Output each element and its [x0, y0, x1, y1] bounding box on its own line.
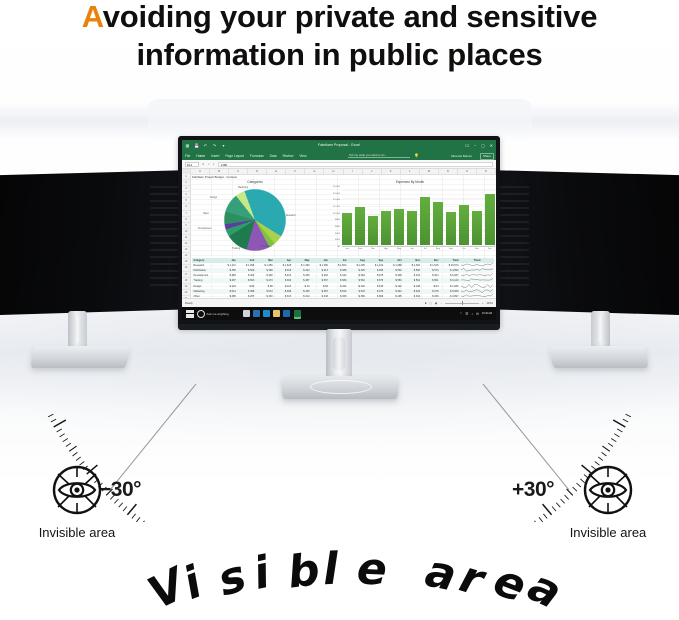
protractor-tick: [48, 414, 53, 417]
table-cell: $ 1,390: [293, 264, 311, 267]
bar-jul: [420, 197, 430, 245]
bar-dec: [485, 194, 495, 245]
table-cell: $ 1,845: [440, 285, 460, 288]
budget-data-table[interactable]: CategoryJanFebMarAprMayJunJulAugSepOctNo…: [192, 258, 494, 299]
table-cell: $ 1,356: [256, 264, 274, 267]
table-cell: $ 145: [366, 285, 384, 288]
bar-chart-y-axis: $1,800$1,600$1,400$1,200$1,000$800$600$4…: [322, 187, 341, 247]
table-cell: $ 456: [366, 269, 384, 272]
bar-sep: [446, 212, 456, 245]
table-column-header[interactable]: Category: [192, 259, 219, 262]
y-tick: $800: [335, 219, 340, 221]
protractor-tick: [613, 420, 625, 427]
protractor-tick: [69, 446, 76, 451]
y-tick: $1,800: [333, 186, 340, 188]
minimize-icon[interactable]: −: [474, 143, 476, 148]
excel-window: ▦ 💾 ↶ ↷ ▾ Fabrikam Proposal - Excel ☐ − …: [182, 140, 496, 320]
protractor-tick: [66, 443, 71, 446]
table-cell: $ 83: [311, 285, 329, 288]
window-controls[interactable]: ☐ − ◻ ✕: [465, 143, 493, 148]
zoom-in-button[interactable]: +: [482, 302, 484, 305]
bar-chart-plot-area: [342, 190, 495, 245]
crossed-out-eye-icon: [582, 464, 634, 516]
pie-chart-title: Categories: [194, 180, 316, 184]
formula-input[interactable]: 1488: [218, 162, 493, 167]
table-column-header[interactable]: Sep: [366, 259, 384, 262]
table-cell: $ 1,503: [330, 264, 348, 267]
table-cell: $ 507: [311, 279, 329, 282]
insert-function-icon[interactable]: ƒ: [213, 162, 215, 166]
visible-area-char: s: [212, 550, 251, 606]
bar-feb: [355, 207, 365, 246]
protractor-tick: [73, 452, 78, 456]
table-cell: $ 366: [256, 269, 274, 272]
table-cell: $ 84: [422, 285, 440, 288]
table-cell: $ 432: [403, 274, 421, 277]
restore-icon[interactable]: ◻: [481, 143, 484, 148]
cortana-circle-icon: [197, 310, 205, 318]
table-cell: $ 1,172: [219, 264, 237, 267]
center-monitor-screen: ▦ 💾 ↶ ↷ ▾ Fabrikam Proposal - Excel ☐ − …: [182, 140, 496, 320]
x-tick: May: [394, 248, 404, 254]
protractor-tick: [623, 419, 628, 422]
table-cell: $ 420: [348, 285, 366, 288]
table-cell: $ 1,515: [422, 264, 440, 267]
visible-area-char: a: [421, 546, 460, 602]
ribbon-tab-page-layout[interactable]: Page Layout: [225, 154, 244, 158]
zoom-out-button[interactable]: −: [440, 302, 442, 305]
protractor-tick: [617, 429, 622, 432]
sheet-cells[interactable]: Fabrikam Project Budget - Contoso Catego…: [190, 174, 496, 303]
table-cell: $ 424: [330, 285, 348, 288]
headline-line2: information in public places: [0, 36, 679, 74]
ribbon-tab-review[interactable]: Review: [283, 154, 294, 158]
status-text: Ready: [185, 302, 193, 305]
show-hidden-icons[interactable]: ⌃: [459, 312, 462, 316]
table-cell: $ 5,068: [440, 290, 460, 293]
outlook-icon[interactable]: [283, 310, 290, 317]
cell-a1-text: Fabrikam Project Budget - Contoso: [192, 175, 237, 179]
protractor-tick: [602, 446, 609, 451]
table-cell: $ 573: [422, 269, 440, 272]
table-cell: $ 58: [256, 285, 274, 288]
table-cell: $ 503: [348, 290, 366, 293]
table-cell: $ 388: [330, 269, 348, 272]
table-cell: $ 513: [256, 290, 274, 293]
pie-chart[interactable]: Categories Marketing Design Sales Develo…: [194, 180, 316, 254]
store-icon[interactable]: [273, 310, 280, 317]
table-column-header[interactable]: Jul: [330, 259, 348, 262]
table-cell: $ 342: [385, 290, 403, 293]
cortana-search-box[interactable]: Ask me anything: [197, 310, 229, 318]
x-tick: Jul: [420, 248, 430, 254]
status-right-group[interactable]: ■ ▢ ▣ − + 100%: [425, 302, 493, 305]
x-tick: Aug: [433, 248, 443, 254]
account-name[interactable]: Miranda Baines: [451, 154, 472, 158]
table-column-header[interactable]: Jun: [311, 259, 329, 262]
table-column-header[interactable]: Aug: [348, 259, 366, 262]
lightbulb-icon: 💡: [414, 153, 419, 158]
table-cell: $ 487: [219, 279, 237, 282]
table-cell-category: Research: [192, 264, 219, 267]
center-monitor: ▦ 💾 ↶ ↷ ▾ Fabrikam Proposal - Excel ☐ − …: [178, 136, 500, 388]
pie-label-marketing: Marketing: [238, 187, 248, 189]
protractor-tick: [76, 457, 81, 461]
page-title: Avoiding your private and sensitive info…: [0, 0, 679, 74]
table-cell: $ 502: [385, 269, 403, 272]
table-cell: $ 1,362: [403, 264, 421, 267]
table-cell: $ 15,574: [440, 264, 460, 267]
visible-area-char: r: [454, 551, 488, 606]
table-cell: $ 1,628: [274, 264, 292, 267]
protractor-tick: [63, 439, 68, 442]
ribbon-tab-view[interactable]: View: [299, 154, 306, 158]
table-cell: $ 561: [422, 279, 440, 282]
task-view-icon[interactable]: [243, 310, 250, 317]
pie-label-design: Design: [210, 197, 217, 199]
table-cell: $ 138: [403, 285, 421, 288]
left-monitor: [0, 170, 202, 385]
right-monitor-stand-neck: [591, 311, 610, 349]
visible-area-char: i: [249, 548, 273, 601]
table-cell: $ 409: [385, 274, 403, 277]
pie-label-development: Development: [198, 228, 212, 230]
pie-chart-graphic: [224, 189, 286, 251]
table-cell: $ 44: [293, 285, 311, 288]
taskbar-clock[interactable]: 10:46 AM: [482, 312, 492, 315]
crossed-out-eye-icon: [51, 464, 103, 516]
table-cell: $ 329: [348, 269, 366, 272]
volume-icon[interactable]: ♪: [471, 312, 473, 316]
table-cell: $ 513: [219, 290, 237, 293]
table-cell: $ 402: [274, 274, 292, 277]
table-cell: $ 580: [330, 279, 348, 282]
confirm-icon[interactable]: ✓: [208, 162, 211, 166]
table-cell: $ 123: [219, 285, 237, 288]
share-button[interactable]: Share: [480, 153, 494, 160]
excel-status-bar: Ready ■ ▢ ▣ − + 100%: [182, 298, 496, 307]
table-column-header[interactable]: Trend: [460, 259, 494, 262]
y-tick: $1,600: [333, 193, 340, 195]
table-column-header[interactable]: Nov: [403, 259, 421, 262]
y-tick: $1,400: [333, 199, 340, 201]
table-column-header[interactable]: Apr: [274, 259, 292, 262]
x-tick: Nov: [472, 248, 482, 254]
ribbon-tab-file[interactable]: File: [185, 154, 190, 158]
table-cell: $ 1,280: [311, 264, 329, 267]
table-cell: $ 509: [237, 269, 255, 272]
ribbon-tab-home[interactable]: Home: [196, 154, 205, 158]
table-cell: $ 473: [256, 279, 274, 282]
left-monitor-screen: [0, 170, 192, 315]
excel-document-title: Fabrikam Proposal - Excel: [182, 143, 496, 147]
visible-area-char: l: [322, 544, 338, 596]
bar-chart[interactable]: Expenses By Month $1,800$1,600$1,400$1,2…: [322, 180, 496, 254]
protractor-tick: [614, 434, 619, 437]
table-cell: $ 1,305: [348, 264, 366, 267]
excel-title-bar: ▦ 💾 ↶ ↷ ▾ Fabrikam Proposal - Excel ☐ − …: [182, 140, 496, 151]
table-cell: $ 5,287: [440, 274, 460, 277]
table-cell: $ 520: [330, 290, 348, 293]
protractor-tick: [54, 420, 66, 427]
file-explorer-icon[interactable]: [263, 310, 270, 317]
right-screen-ghost-content: [495, 186, 529, 286]
ribbon-display-options-icon[interactable]: ☐: [465, 143, 469, 148]
action-center-icon[interactable]: ✉: [476, 312, 479, 316]
x-tick: Jun: [407, 248, 417, 254]
edge-icon[interactable]: [253, 310, 260, 317]
table-cell: $ 346: [293, 290, 311, 293]
search-placeholder: Ask me anything: [207, 312, 229, 316]
y-tick: $400: [335, 233, 340, 235]
windows-taskbar[interactable]: Ask me anything ⌃ ☰: [182, 307, 496, 320]
table-cell: $ 102: [385, 285, 403, 288]
table-cell: $ 462: [311, 274, 329, 277]
x-tick: Sep: [446, 248, 456, 254]
bar-aug: [433, 202, 443, 245]
visible-area-char: e: [356, 544, 387, 596]
table-cell: $ 478: [366, 274, 384, 277]
x-tick: Apr: [381, 248, 391, 254]
bar-mar: [368, 216, 378, 245]
table-cell: $ 356: [219, 269, 237, 272]
table-cell: $ 398: [274, 290, 292, 293]
table-cell: $ 580: [385, 279, 403, 282]
protractor-tick: [602, 452, 607, 456]
table-cell-category: Design: [192, 285, 219, 288]
table-cell: $ 387: [311, 290, 329, 293]
protractor-tick: [132, 514, 136, 519]
table-column-header[interactable]: Jan: [219, 259, 237, 262]
table-cell: $ 503: [237, 279, 255, 282]
excel-icon[interactable]: [294, 310, 301, 317]
table-cell: $ 489: [219, 274, 237, 277]
table-cell-category: Marketing: [192, 290, 219, 293]
right-monitor-stand-base: [549, 346, 648, 368]
table-column-header[interactable]: Oct: [385, 259, 403, 262]
table-cell: $ 313: [311, 269, 329, 272]
network-icon[interactable]: ☰: [465, 312, 468, 316]
bar-jun: [407, 211, 417, 245]
protractor-tick: [626, 414, 631, 417]
protractor-tick: [611, 439, 616, 442]
table-cell-category: Training: [192, 279, 219, 282]
left-monitor-stand-base: [30, 346, 129, 368]
protractor-tick: [60, 434, 65, 437]
table-cell: $ 429: [403, 290, 421, 293]
scene: Avoiding your private and sensitive info…: [0, 0, 679, 620]
table-cell: $ 6,129: [440, 279, 460, 282]
table-cell: $ 364: [274, 279, 292, 282]
table-cell-category: Development: [192, 274, 219, 277]
table-cell: $ 279: [366, 290, 384, 293]
table-cell: $ 1,012: [366, 264, 384, 267]
windows-start-icon[interactable]: [186, 310, 194, 318]
headline-accent-letter: A: [82, 0, 103, 34]
table-cell: $ 376: [422, 290, 440, 293]
right-monitor-screen: [487, 170, 679, 315]
pie-label-sales: Sales: [203, 213, 209, 215]
table-cell: $ 402: [237, 274, 255, 277]
view-pagelayout-icon[interactable]: ▢: [429, 302, 431, 305]
table-cell: $ 1,088: [385, 264, 403, 267]
formula-bar-row: D14 ✕ ✓ ƒ 1488: [182, 160, 496, 169]
y-tick: $1,200: [333, 206, 340, 208]
table-cell: $ 492: [256, 274, 274, 277]
table-cell-category: Distribution: [192, 269, 219, 272]
bar-apr: [381, 211, 391, 245]
y-tick: $0: [338, 246, 340, 248]
table-cell: $ 1,096: [237, 264, 255, 267]
visible-area-label: Visiblearea: [0, 520, 679, 610]
table-cell: $ 82: [237, 285, 255, 288]
table-cell: $ 566: [403, 269, 421, 272]
x-tick: Jan: [342, 248, 352, 254]
pie-label-training: Training: [232, 248, 240, 250]
angle-label-right: +30°: [512, 478, 554, 502]
table-cell: $ 487: [293, 279, 311, 282]
protractor-tick: [543, 504, 552, 515]
bar-nov: [472, 211, 482, 245]
table-cell: $ 484: [348, 274, 366, 277]
bar-may: [394, 209, 404, 245]
table-cell: $ 562: [348, 279, 366, 282]
zoom-slider[interactable]: [445, 303, 479, 304]
y-tick: $1,000: [333, 213, 340, 215]
view-pagebreak-icon[interactable]: ▣: [435, 302, 437, 305]
close-icon[interactable]: ✕: [490, 143, 493, 148]
protractor-tick: [608, 443, 613, 446]
table-cell: $ 318: [274, 269, 292, 272]
bar-jan: [342, 213, 352, 245]
system-tray[interactable]: ⌃ ☰ ♪ ✉ 10:46 AM: [459, 312, 494, 316]
table-column-header[interactable]: Feb: [237, 259, 255, 262]
table-cell: $ 398: [237, 290, 255, 293]
protractor-tick: [598, 457, 603, 461]
table-cell: $ 404: [422, 274, 440, 277]
table-cell: $ 124: [274, 285, 292, 288]
excel-worksheet[interactable]: A B C D E F G H I J K L M: [182, 169, 496, 303]
table-cell: $ 575: [366, 279, 384, 282]
bar-chart-x-axis: JanFebMarAprMayJunJulAugSepOctNovDec: [342, 246, 495, 254]
tell-me-search-input[interactable]: Tell me what you want to do...: [348, 153, 410, 158]
table-column-header[interactable]: Total: [440, 259, 460, 262]
formula-bar-icons[interactable]: ✕ ✓ ƒ: [202, 162, 215, 166]
table-cell: $ 564: [403, 279, 421, 282]
pie-label-distribution: Distribution: [260, 246, 272, 248]
table-column-header[interactable]: May: [293, 259, 311, 262]
center-monitor-bezel: ▦ 💾 ↶ ↷ ▾ Fabrikam Proposal - Excel ☐ − …: [178, 136, 500, 328]
table-cell: $ 436: [293, 274, 311, 277]
protractor-tick: [51, 419, 56, 422]
x-tick: Dec: [485, 248, 495, 254]
pie-label-research: Research: [286, 215, 296, 217]
x-tick: Mar: [368, 248, 378, 254]
taskbar-app-icons[interactable]: [243, 310, 301, 317]
excel-ribbon-tabs[interactable]: File Home Insert Page Layout Formulas Da…: [182, 151, 496, 160]
table-column-header[interactable]: Dec: [422, 259, 440, 262]
protractor-tick: [543, 514, 547, 519]
x-tick: Feb: [355, 248, 365, 254]
headline-line1: voiding your private and sensitive: [103, 0, 598, 34]
ribbon-tab-insert[interactable]: Insert: [211, 154, 219, 158]
table-cell: $ 4,890: [440, 269, 460, 272]
zoom-level[interactable]: 100%: [486, 302, 493, 305]
x-tick: Oct: [459, 248, 469, 254]
visible-area-char: b: [285, 544, 322, 598]
ribbon-tab-formulas[interactable]: Formulas: [250, 154, 264, 158]
y-tick: $600: [335, 226, 340, 228]
y-tick: $200: [335, 239, 340, 241]
table-cell: $ 442: [330, 274, 348, 277]
view-normal-icon[interactable]: ■: [425, 302, 427, 305]
cancel-icon[interactable]: ✕: [202, 162, 205, 166]
table-column-header[interactable]: Mar: [256, 259, 274, 262]
right-monitor: [477, 170, 679, 385]
protractor-tick: [57, 429, 62, 432]
bar-chart-title: Expenses By Month: [322, 180, 496, 184]
left-monitor-stand-neck: [68, 311, 87, 349]
ribbon-tab-data[interactable]: Data: [270, 154, 277, 158]
name-box[interactable]: D14: [185, 162, 199, 167]
bar-oct: [459, 205, 469, 245]
table-cell: $ 324: [293, 269, 311, 272]
